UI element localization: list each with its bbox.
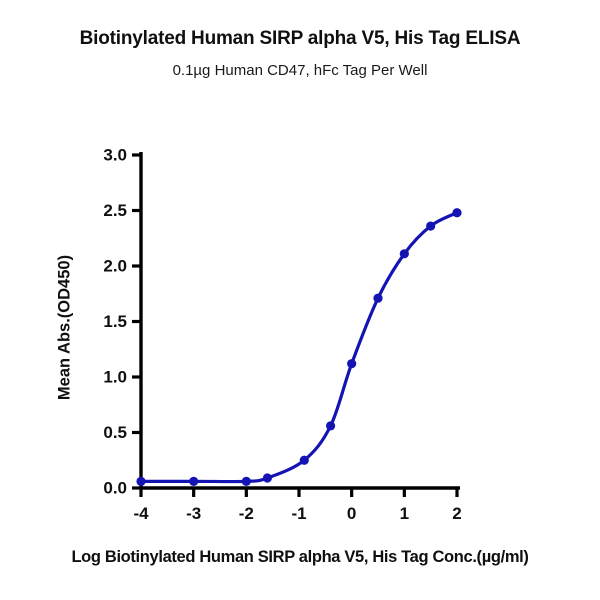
x-tick-label: -1 bbox=[291, 504, 306, 523]
y-tick-label: 3.0 bbox=[103, 145, 127, 164]
data-point-marker bbox=[452, 208, 461, 217]
y-tick-label: 0.5 bbox=[103, 423, 127, 442]
y-tick-label: 2.5 bbox=[103, 201, 127, 220]
x-tick-label: 2 bbox=[452, 504, 461, 523]
elisa-figure: Biotinylated Human SIRP alpha V5, His Ta… bbox=[0, 0, 600, 600]
data-point-marker bbox=[400, 249, 409, 258]
axes bbox=[132, 152, 460, 497]
y-tick-label: 0.0 bbox=[103, 478, 127, 497]
y-tick-labels: 0.00.51.01.52.02.53.0 bbox=[103, 145, 127, 497]
data-point-marker bbox=[136, 477, 145, 486]
data-point-marker bbox=[189, 477, 198, 486]
data-point-marker bbox=[326, 421, 335, 430]
data-point-marker bbox=[263, 473, 272, 482]
data-point-marker bbox=[426, 221, 435, 230]
data-point-marker bbox=[242, 477, 251, 486]
x-tick-label: -3 bbox=[186, 504, 201, 523]
data-point-marker bbox=[347, 359, 356, 368]
x-tick-label: 1 bbox=[400, 504, 409, 523]
x-tick-label: -4 bbox=[133, 504, 149, 523]
y-tick-label: 1.0 bbox=[103, 367, 127, 386]
x-tick-label: -2 bbox=[239, 504, 254, 523]
series-markers bbox=[136, 208, 461, 486]
plot-area: 0.00.51.01.52.02.53.0 -4-3-2-1012 bbox=[0, 0, 600, 600]
data-point-marker bbox=[373, 294, 382, 303]
y-tick-label: 1.5 bbox=[103, 312, 127, 331]
x-tick-label: 0 bbox=[347, 504, 356, 523]
x-tick-labels: -4-3-2-1012 bbox=[133, 504, 461, 523]
series-line-biotinylated-sirp-alpha bbox=[141, 213, 457, 482]
y-tick-label: 2.0 bbox=[103, 256, 127, 275]
data-point-marker bbox=[300, 456, 309, 465]
